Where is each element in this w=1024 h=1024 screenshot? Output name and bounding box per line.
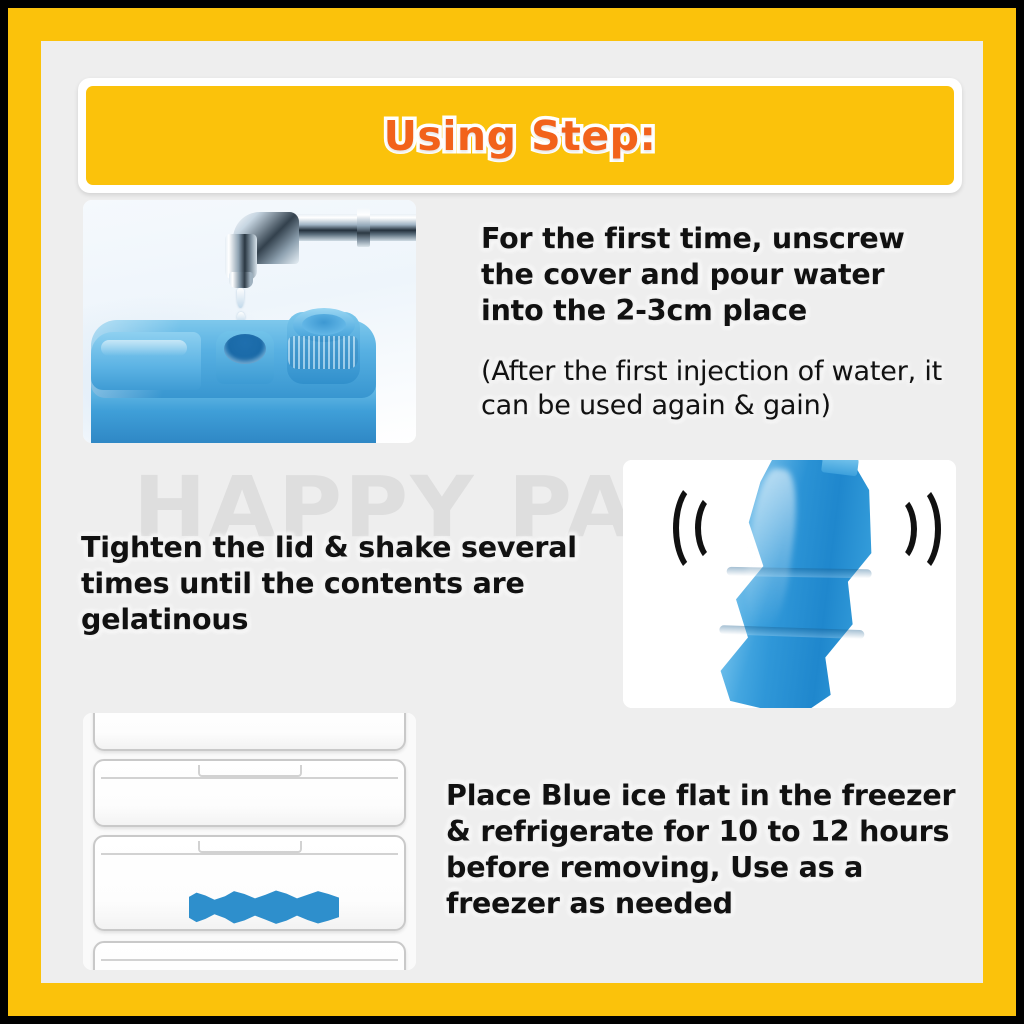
faucet-collar-icon <box>357 208 370 247</box>
step-1-note: (After the first injection of water, it … <box>481 355 956 423</box>
page-title: Using Step: <box>384 112 657 160</box>
shake-motion-arc-icon <box>875 494 917 564</box>
step-1-instruction: For the first time, unscrew the cover an… <box>481 222 905 327</box>
step-2-instruction: Tighten the lid & shake several times un… <box>81 531 577 636</box>
shake-motion-arc-icon <box>695 492 737 564</box>
bottle-open-hole <box>224 334 266 364</box>
bottle-highlight <box>101 340 187 356</box>
header-card: Using Step: <box>78 78 962 193</box>
drawer-lip <box>101 949 398 961</box>
ice-pack-body <box>700 460 895 708</box>
bottle-cap-ribs <box>288 336 358 369</box>
step-3-instruction: Place Blue ice flat in the freezer & ref… <box>446 779 955 920</box>
step-3-text: Place Blue ice flat in the freezer & ref… <box>446 778 966 922</box>
drawer-handle-notch <box>198 841 302 853</box>
ice-pack-in-drawer <box>189 889 339 925</box>
poster-yellow-border: HAPPY PARCEL Using Step: <box>8 8 1016 1016</box>
freezer-drawer <box>93 759 406 827</box>
freezer-drawer <box>93 713 406 751</box>
freezer-drawer <box>93 941 406 970</box>
ice-pack-group <box>700 460 895 708</box>
water-drip-icon <box>237 288 244 308</box>
faucet-spout-icon <box>229 272 253 288</box>
header-banner: Using Step: <box>86 86 954 185</box>
poster-content-area: HAPPY PARCEL Using Step: <box>41 41 983 983</box>
drawer-handle-notch <box>198 765 302 777</box>
step-1-text: For the first time, unscrew the cover an… <box>481 221 956 423</box>
freezer-drawers-photo <box>83 713 416 970</box>
bottle-cap-ring-inner <box>302 314 346 335</box>
freezer-drawer <box>93 835 406 931</box>
poster-outer-frame: HAPPY PARCEL Using Step: <box>0 0 1024 1024</box>
faucet-filling-bottle-photo <box>83 200 416 443</box>
step-2-text: Tighten the lid & shake several times un… <box>81 530 601 638</box>
shaking-ice-pack-photo <box>623 460 956 708</box>
